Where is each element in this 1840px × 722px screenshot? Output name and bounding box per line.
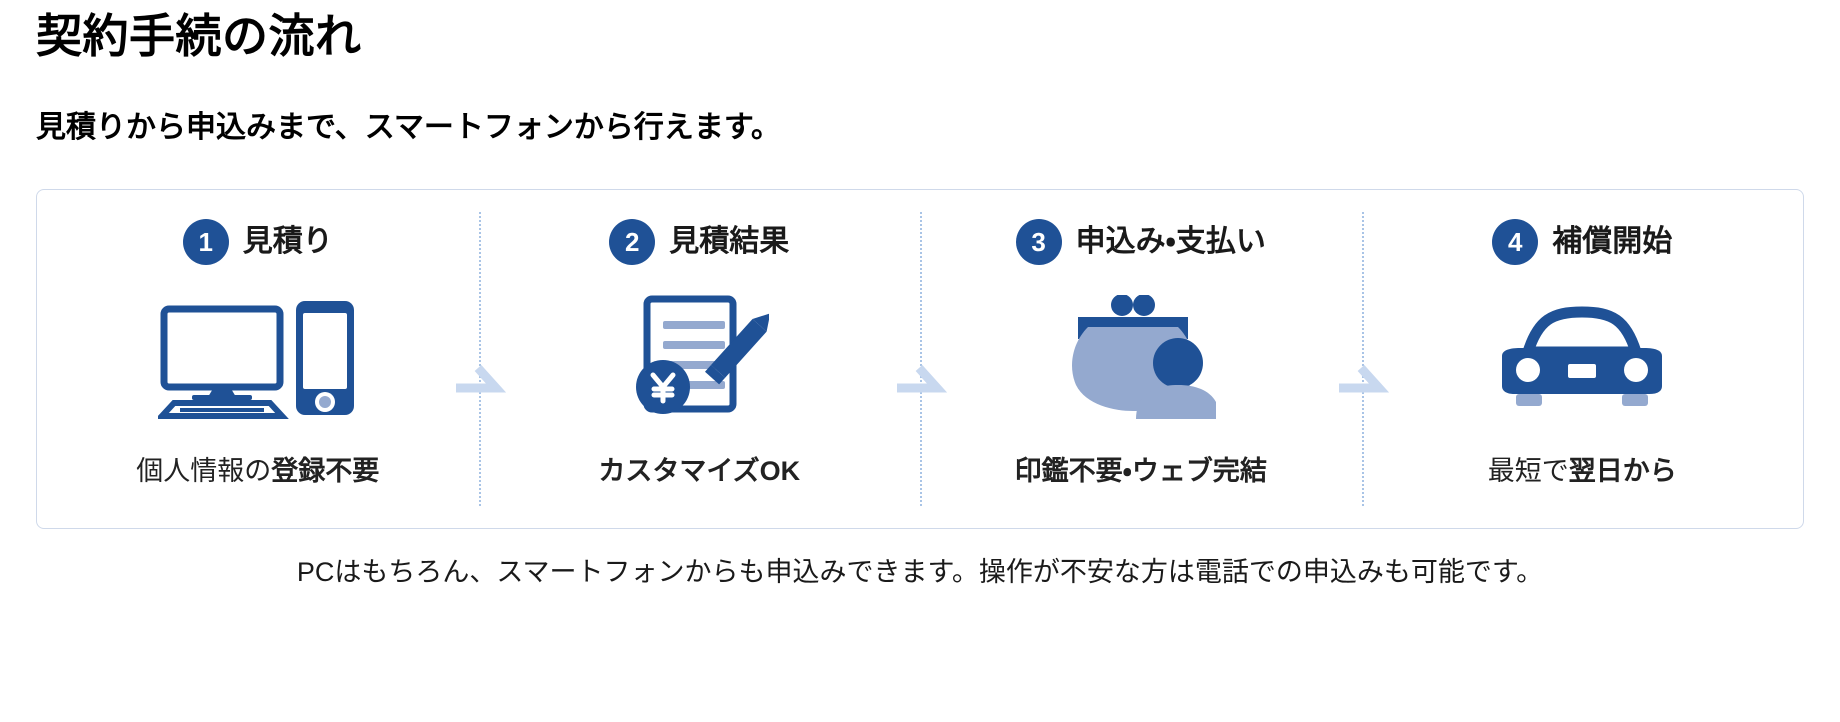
step-4-caption-bold: 翌日から <box>1569 456 1677 486</box>
step-2-title: 見積結果 <box>669 227 789 257</box>
step-4-number-badge: 4 <box>1492 219 1538 265</box>
step-3-number-badge: 3 <box>1016 219 1062 265</box>
page-subtitle: 見積りから申込みまで、スマートフォンから行えます。 <box>36 66 1804 147</box>
step-1-caption: 個人情報の登録不要 <box>136 458 379 485</box>
flow-step-4: 4 補償開始 <box>1362 190 1804 528</box>
step-2-number-badge: 2 <box>609 219 655 265</box>
step-3-caption: 印鑑不要・ウェブ完結 <box>1015 458 1267 485</box>
flow-step-1: 1 見積り <box>37 190 479 528</box>
step-4-header: 4 補償開始 <box>1492 216 1672 268</box>
coin-purse-person-icon <box>1066 294 1216 424</box>
flow-step-3: 3 申込み・支払い 印鑑不要・ウェ <box>920 190 1362 528</box>
step-2-caption: カスタマイズOK <box>598 458 800 485</box>
step-1-header: 1 見積り <box>183 216 333 268</box>
step-3-title: 申込み・支払い <box>1076 227 1266 257</box>
footer-note: PCはもちろん、スマートフォンからも申込みできます。操作が不安な方は電話での申込… <box>36 555 1804 590</box>
step-3-caption-bold: 印鑑不要・ウェブ完結 <box>1015 456 1267 486</box>
step-4-caption-regular: 最短で <box>1488 456 1569 486</box>
step-4-title: 補償開始 <box>1552 227 1672 257</box>
step-1-number-badge: 1 <box>183 219 229 265</box>
step-1-caption-regular: 個人情報の <box>136 456 271 486</box>
step-1-title: 見積り <box>243 227 333 257</box>
step-1-caption-bold: 登録不要 <box>271 456 379 486</box>
car-icon <box>1494 294 1670 424</box>
step-2-header: 2 見積結果 <box>609 216 789 268</box>
step-4-caption: 最短で翌日から <box>1488 458 1677 485</box>
flow-card: 1 見積り <box>36 189 1804 529</box>
desktop-and-smartphone-icon <box>158 294 358 424</box>
document-yen-pencil-icon <box>629 294 769 424</box>
page-title: 契約手続の流れ <box>36 0 1804 66</box>
step-3-header: 3 申込み・支払い <box>1016 216 1266 268</box>
contract-flow-page: 契約手続の流れ 見積りから申込みまで、スマートフォンから行えます。 1 見積り <box>0 0 1840 722</box>
step-2-caption-bold: カスタマイズOK <box>598 456 800 486</box>
flow-step-2: 2 見積結果 <box>479 190 921 528</box>
